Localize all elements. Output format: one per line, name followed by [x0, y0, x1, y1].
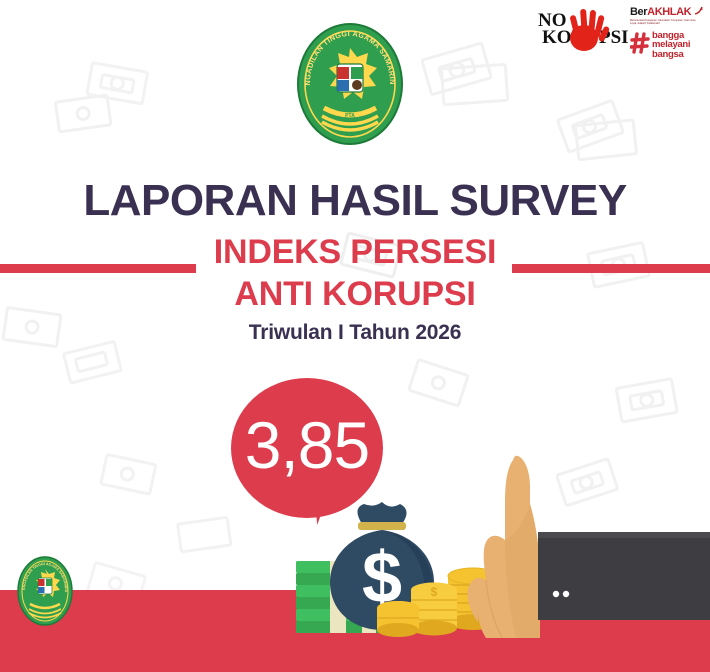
hashtag-icon	[630, 32, 650, 59]
watermark-money-9	[404, 358, 478, 424]
score-bubble: 3,85	[231, 378, 383, 518]
stop-hand	[468, 456, 540, 638]
poster-canvas: PENGADILAN TINGGI AGAMA SAMARINDA PTA NO…	[0, 0, 710, 672]
bmb-line3: bangsa	[652, 50, 690, 60]
berakhlak-swoosh-icon	[691, 6, 704, 18]
berakhlak-prefix: Ber	[630, 6, 647, 18]
berakhlak-title: BerAKHLAK	[630, 6, 704, 18]
watermark-money-4	[556, 92, 646, 172]
red-handprint-icon	[560, 6, 612, 59]
bangga-melayani-bangsa-text: bangga melayani bangsa	[652, 31, 690, 60]
subtitle-line-1: INDEKS PERSESI	[0, 232, 710, 272]
watermark-money-3	[52, 88, 122, 150]
watermark-money-2	[82, 56, 160, 126]
svg-text:$: $	[431, 585, 438, 599]
suit-sleeve	[538, 532, 710, 620]
score-value: 3,85	[231, 378, 383, 518]
watermark-money-1	[420, 34, 516, 118]
berakhlak-suffix: AKHLAK	[647, 6, 691, 18]
subtitle-line-2: ANTI KORUPSI	[0, 274, 710, 314]
page-title: LAPORAN HASIL SURVEY	[0, 176, 710, 226]
title-block: LAPORAN HASIL SURVEY INDEKS PERSESI ANTI…	[0, 176, 710, 346]
period-label: Triwulan I Tahun 2026	[0, 320, 710, 346]
logo-cluster: NO KORUPSI BerAK	[538, 4, 704, 60]
footer-court-emblem: PENGADILAN TINGGI AGAMA SAMARINDA	[16, 556, 74, 626]
svg-text:PTA: PTA	[345, 113, 355, 119]
berakhlak-block: BerAKHLAK Berorientasi Pelayanan, Akunta…	[630, 4, 704, 60]
berakhlak-logo: BerAKHLAK Berorientasi Pelayanan, Akunta…	[630, 6, 704, 26]
berakhlak-tagline: Berorientasi Pelayanan, Akuntabel, Kompe…	[630, 19, 698, 26]
no-korupsi-logo: NO KORUPSI	[538, 4, 624, 56]
bangga-melayani-bangsa-logo: bangga melayani bangsa	[630, 31, 704, 60]
court-emblem: PENGADILAN TINGGI AGAMA SAMARINDA PTA	[296, 22, 404, 146]
